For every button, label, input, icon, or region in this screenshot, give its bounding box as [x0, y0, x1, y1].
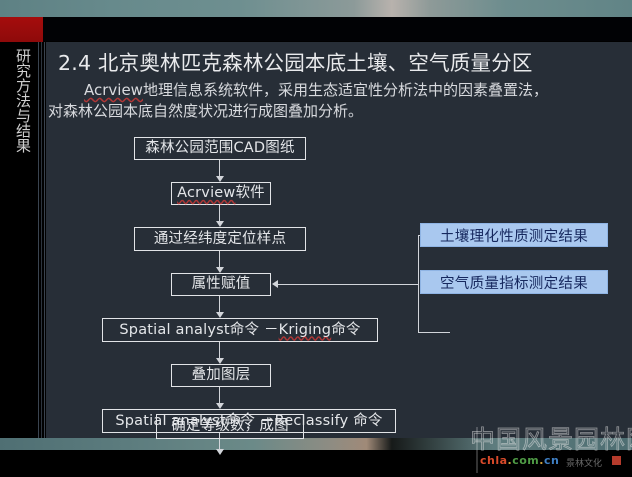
connector-air-branch	[418, 332, 450, 333]
sidebar-divider-2	[41, 42, 42, 438]
flow-node-kriging[interactable]: Spatial analyst命令 －Kriging 命令	[102, 318, 378, 342]
flow-node-acrview-suffix: 软件	[235, 186, 264, 201]
flow-node-attribute-assignment[interactable]: 属性赋值	[171, 273, 271, 296]
arrow-reclassify-to-result-icon	[216, 449, 224, 455]
flow-node-acrview[interactable]: Acrview软件	[171, 182, 271, 205]
flow-node-overlay-layers[interactable]: 叠加图层	[171, 364, 271, 387]
flow-node-kriging-post: 命令	[331, 323, 360, 338]
arrow-side-to-attribute-icon	[272, 280, 278, 288]
flow-node-air-test-results[interactable]: 空气质量指标测定结果	[420, 270, 608, 294]
sidebar-divider-1	[38, 42, 39, 438]
presentation-slide: 研究方法与结果 2.4 北京奥林匹克森林公园本底土壤、空气质量分区 Acrvie…	[0, 0, 632, 477]
flow-node-determine-levels[interactable]: 确定等级数，成图	[156, 414, 304, 439]
flowchart: 森林公园范围CAD图纸 Acrview软件 通过经纬度定位样点 属性赋值	[46, 42, 632, 438]
spellcheck-word-kriging: Kriging	[279, 323, 332, 338]
flow-node-kriging-pre: Spatial analyst命令 －	[119, 323, 278, 338]
sidebar-divider-3	[44, 42, 45, 438]
flow-node-locate-sample-points[interactable]: 通过经纬度定位样点	[134, 227, 306, 251]
bottom-black-band	[0, 450, 632, 477]
slide-content-area: 2.4 北京奥林匹克森林公园本底土壤、空气质量分区 Acrview地理信息系统软…	[46, 42, 632, 438]
top-teal-band	[0, 0, 632, 17]
sidebar-section-label: 研究方法与结果	[4, 48, 32, 153]
top-black-band	[0, 17, 632, 41]
bottom-teal-band	[0, 438, 632, 450]
connector-side-to-attribute-horizontal	[278, 284, 418, 285]
spellcheck-word-acrview-node: Acrview	[177, 186, 235, 201]
connector-side-bracket-vertical	[418, 235, 419, 333]
section-sidebar: 研究方法与结果	[0, 42, 36, 438]
red-accent-tab	[0, 17, 43, 42]
flow-node-cad[interactable]: 森林公园范围CAD图纸	[134, 137, 306, 160]
flow-node-soil-test-results[interactable]: 土壤理化性质测定结果	[420, 223, 608, 247]
